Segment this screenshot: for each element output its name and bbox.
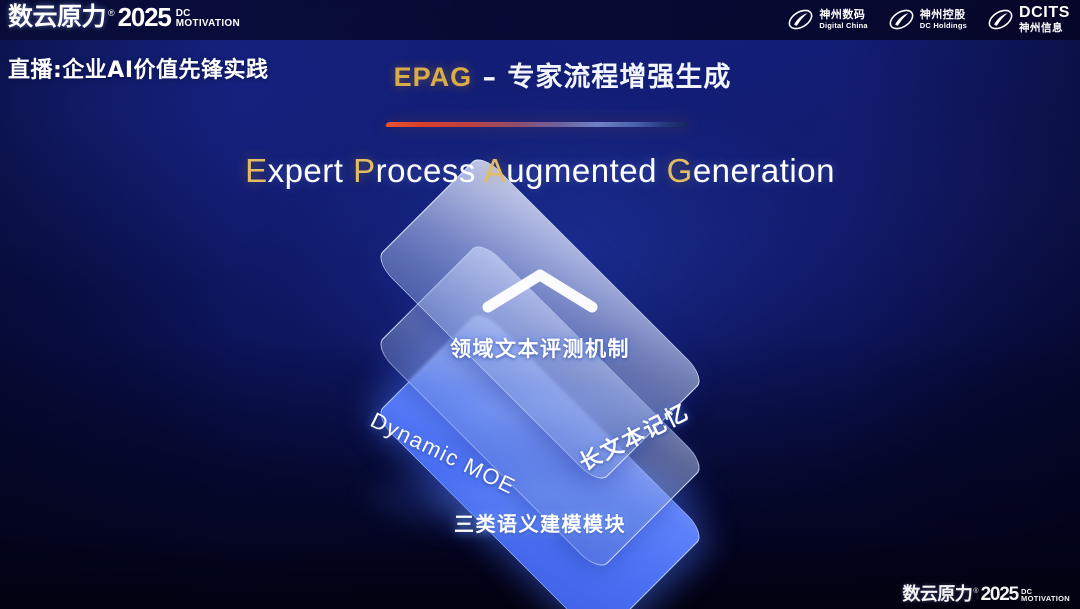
subtitle-capital-p: P	[353, 152, 376, 189]
layer-top-label: 领域文本评测机制	[0, 333, 1080, 363]
brand-year: 2025	[118, 4, 171, 30]
swirl-logo-icon	[888, 6, 915, 33]
diagram-layer-bottom	[374, 309, 706, 609]
partner-logo-text-3: DCITS神州信息	[1019, 5, 1070, 34]
diagram-layer-top	[374, 153, 706, 485]
slide-canvas: 领域文本评测机制 Dynamic MOE 长文本记忆 三类语义建模模块 数云原力…	[0, 0, 1080, 609]
brand-dc-text: DC	[176, 9, 240, 18]
partner-logo-en-3: DCITS	[1019, 5, 1070, 21]
layer-middle-edge	[374, 240, 706, 572]
subtitle-capital-e: E	[245, 152, 268, 189]
subtitle-word-3: eneration	[693, 152, 835, 189]
layer-bottom-glow	[360, 455, 720, 539]
subtitle-capital-a: A	[484, 152, 507, 189]
brand-registered-mark: ®	[108, 6, 115, 20]
live-broadcast-title: 直播:企业AI价值先锋实践	[8, 52, 269, 84]
layer-bottom-edge	[374, 309, 706, 609]
partner-logo-group: 神州数码Digital China神州控股DC HoldingsDCITS神州信…	[787, 5, 1070, 34]
partner-logo-2: 神州控股DC Holdings	[888, 6, 967, 33]
swirl-logo-icon	[787, 6, 814, 33]
diagram-layer-middle	[374, 240, 706, 572]
layer-top-face	[374, 153, 706, 485]
brand-motivation-text: MOTIVATION	[176, 18, 240, 29]
subtitle-capital-g: G	[667, 152, 693, 189]
layer-middle-label-right: 长文本记忆	[573, 394, 694, 477]
gradient-divider	[385, 122, 690, 127]
subtitle-word-1: rocess	[376, 152, 484, 189]
layer-bottom-face	[374, 309, 706, 609]
partner-logo-1: 神州数码Digital China	[787, 6, 867, 33]
brand-logo: 数云原力 ® 2025 DC MOTIVATION	[8, 4, 240, 30]
layer-middle-glow	[390, 372, 690, 444]
watermark-registered-mark: ®	[973, 587, 978, 597]
brand-dc-motivation: DC MOTIVATION	[176, 9, 240, 29]
partner-logo-en-1: Digital China	[819, 22, 867, 30]
subtitle-word-0: xpert	[268, 152, 354, 189]
partner-logo-cn-1: 神州数码	[819, 9, 867, 20]
page-title-acronym: EPAG	[394, 62, 473, 92]
partner-logo-cn-3: 神州信息	[1019, 23, 1070, 34]
watermark-motivation-text: MOTIVATION	[1021, 595, 1070, 603]
english-subtitle: Expert Process Augmented Generation	[0, 152, 1080, 190]
chevron-up-icon	[481, 268, 599, 314]
watermark-name-cn: 数云原力	[902, 585, 972, 604]
layer-top-edge	[374, 153, 706, 485]
partner-logo-en-2: DC Holdings	[920, 22, 967, 30]
page-title-cn: – 专家流程增强生成	[472, 62, 731, 93]
brand-name-cn: 数云原力	[8, 4, 106, 30]
layer-middle-label-left: Dynamic MOE	[366, 407, 520, 500]
partner-logo-3: DCITS神州信息	[987, 5, 1070, 34]
watermark-dc-motivation: DC MOTIVATION	[1021, 588, 1070, 603]
layer-middle-face	[374, 240, 706, 572]
watermark-year: 2025	[981, 585, 1018, 604]
swirl-logo-icon	[987, 6, 1014, 33]
partner-logo-text-2: 神州控股DC Holdings	[920, 9, 967, 30]
partner-logo-text-1: 神州数码Digital China	[819, 9, 867, 30]
layer-bottom-label: 三类语义建模模块	[0, 508, 1080, 537]
partner-logo-cn-2: 神州控股	[920, 9, 967, 20]
brand-watermark: 数云原力 ® 2025 DC MOTIVATION	[902, 585, 1070, 604]
subtitle-word-2: ugmented	[506, 152, 666, 189]
